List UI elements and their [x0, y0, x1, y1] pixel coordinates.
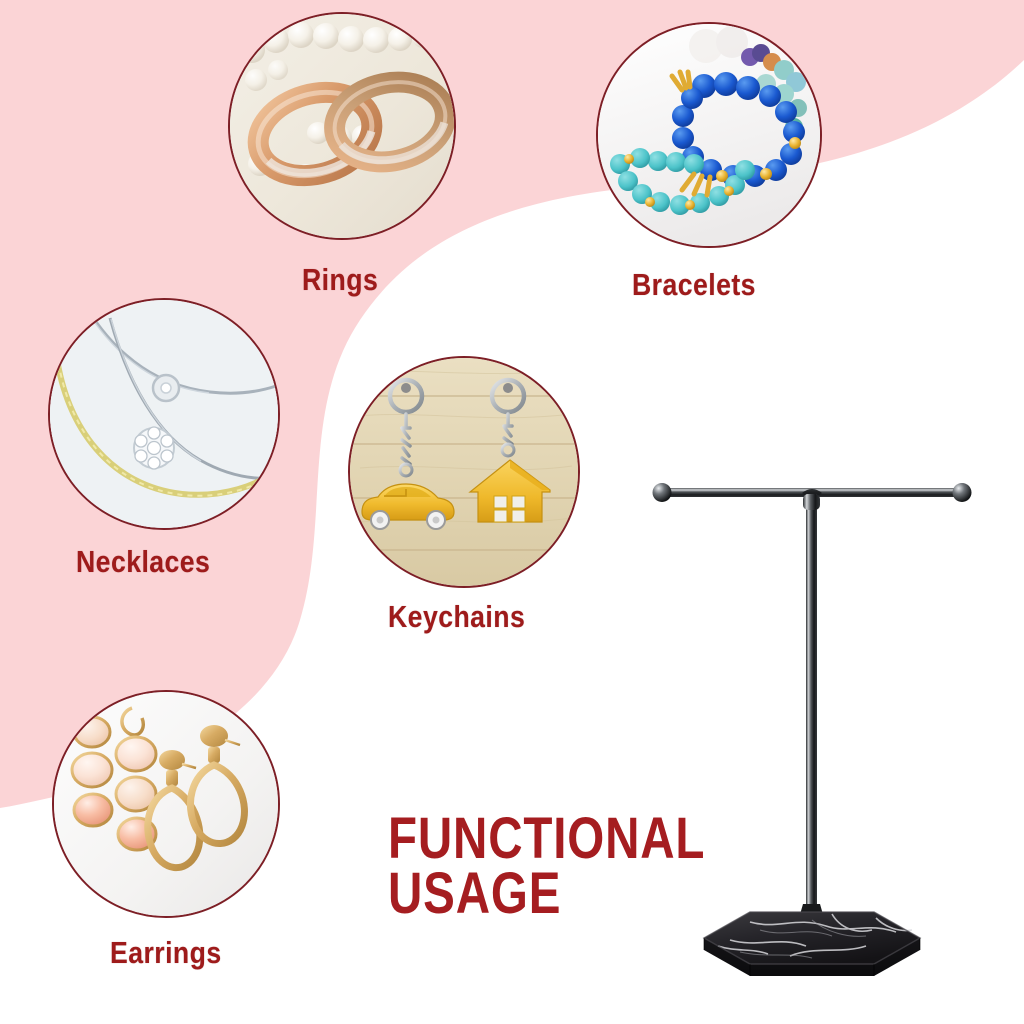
keychains-photo-circle [348, 356, 580, 588]
pendant-flower [134, 427, 174, 469]
bar-end-ball-right [953, 483, 972, 502]
rings-photo-circle [228, 12, 456, 240]
infographic-canvas: Rings [0, 0, 1024, 1024]
feature-bracelets: Bracelets [596, 22, 826, 322]
feature-earrings: Earrings [52, 690, 292, 990]
feature-keychains: Keychains [348, 356, 588, 656]
feature-label-earrings: Earrings [110, 935, 222, 971]
bracelets-photo-circle [596, 22, 822, 248]
necklaces-photo-circle [48, 298, 280, 530]
bar-end-ball-left [653, 483, 672, 502]
feature-necklaces: Necklaces [48, 298, 288, 598]
feature-rings: Rings [228, 12, 458, 312]
pendant-small [153, 375, 179, 401]
stand-pole [799, 494, 824, 918]
feature-label-necklaces: Necklaces [76, 544, 210, 580]
feature-label-rings: Rings [302, 262, 378, 298]
feature-label-bracelets: Bracelets [632, 267, 756, 303]
t-bar-jewelry-stand [600, 460, 1020, 980]
feature-label-keychains: Keychains [388, 599, 525, 635]
stand-base [704, 912, 920, 976]
earrings-photo-circle [52, 690, 280, 918]
